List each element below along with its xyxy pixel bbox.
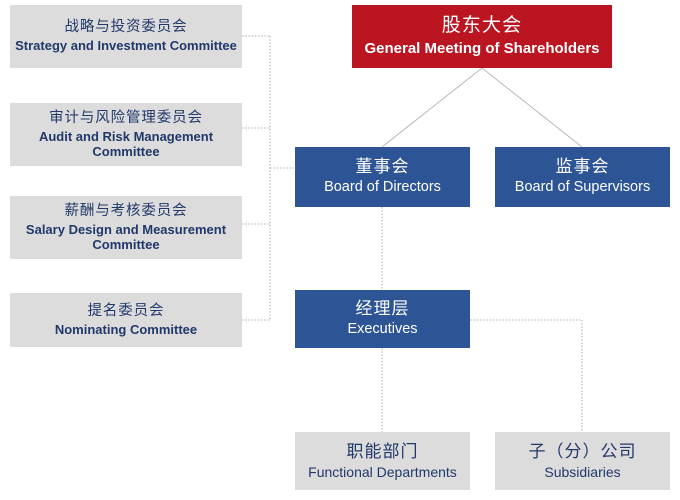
org-chart: 战略与投资委员会 Strategy and Investment Committ… — [0, 0, 680, 500]
connector-shareholders-to-supervisors — [482, 68, 582, 147]
committee-nominating-cn: 提名委员会 — [88, 303, 165, 320]
committee-salary-design-and-measurement-en: Salary Design and Measurement Committee — [10, 222, 242, 253]
node-functional-departments[interactable]: 职能部门 Functional Departments — [295, 432, 470, 490]
node-general-meeting-of-shareholders-cn: 股东大会 — [442, 15, 523, 37]
committee-strategy-and-investment-en: Strategy and Investment Committee — [15, 38, 237, 53]
node-executives-en: Executives — [347, 321, 417, 338]
node-board-of-directors-en: Board of Directors — [324, 179, 441, 196]
node-general-meeting-of-shareholders-en: General Meeting of Shareholders — [364, 40, 599, 58]
committee-audit-and-risk-management-en: Audit and Risk Management Committee — [10, 129, 242, 160]
committee-strategy-and-investment[interactable]: 战略与投资委员会 Strategy and Investment Committ… — [10, 5, 242, 68]
node-subsidiaries[interactable]: 子（分）公司 Subsidiaries — [495, 432, 670, 490]
committee-salary-design-and-measurement-cn: 薪酬与考核委员会 — [65, 203, 188, 220]
committee-salary-design-and-measurement[interactable]: 薪酬与考核委员会 Salary Design and Measurement C… — [10, 196, 242, 259]
node-board-of-directors[interactable]: 董事会 Board of Directors — [295, 147, 470, 207]
committee-nominating[interactable]: 提名委员会 Nominating Committee — [10, 293, 242, 347]
node-functional-departments-cn: 职能部门 — [346, 442, 418, 462]
committee-audit-and-risk-management-cn: 审计与风险管理委员会 — [49, 110, 203, 127]
node-subsidiaries-en: Subsidiaries — [544, 464, 620, 481]
node-general-meeting-of-shareholders[interactable]: 股东大会 General Meeting of Shareholders — [352, 5, 612, 68]
node-board-of-supervisors-cn: 监事会 — [555, 157, 609, 177]
node-board-of-supervisors-en: Board of Supervisors — [515, 179, 650, 196]
node-executives[interactable]: 经理层 Executives — [295, 290, 470, 348]
committee-nominating-en: Nominating Committee — [55, 322, 197, 337]
committee-audit-and-risk-management[interactable]: 审计与风险管理委员会 Audit and Risk Management Com… — [10, 103, 242, 166]
node-board-of-directors-cn: 董事会 — [355, 157, 409, 177]
node-functional-departments-en: Functional Departments — [308, 464, 457, 481]
node-executives-cn: 经理层 — [355, 299, 409, 319]
connector-shareholders-to-directors — [382, 68, 482, 147]
node-board-of-supervisors[interactable]: 监事会 Board of Supervisors — [495, 147, 670, 207]
node-subsidiaries-cn: 子（分）公司 — [528, 442, 636, 462]
committee-strategy-and-investment-cn: 战略与投资委员会 — [65, 19, 188, 36]
